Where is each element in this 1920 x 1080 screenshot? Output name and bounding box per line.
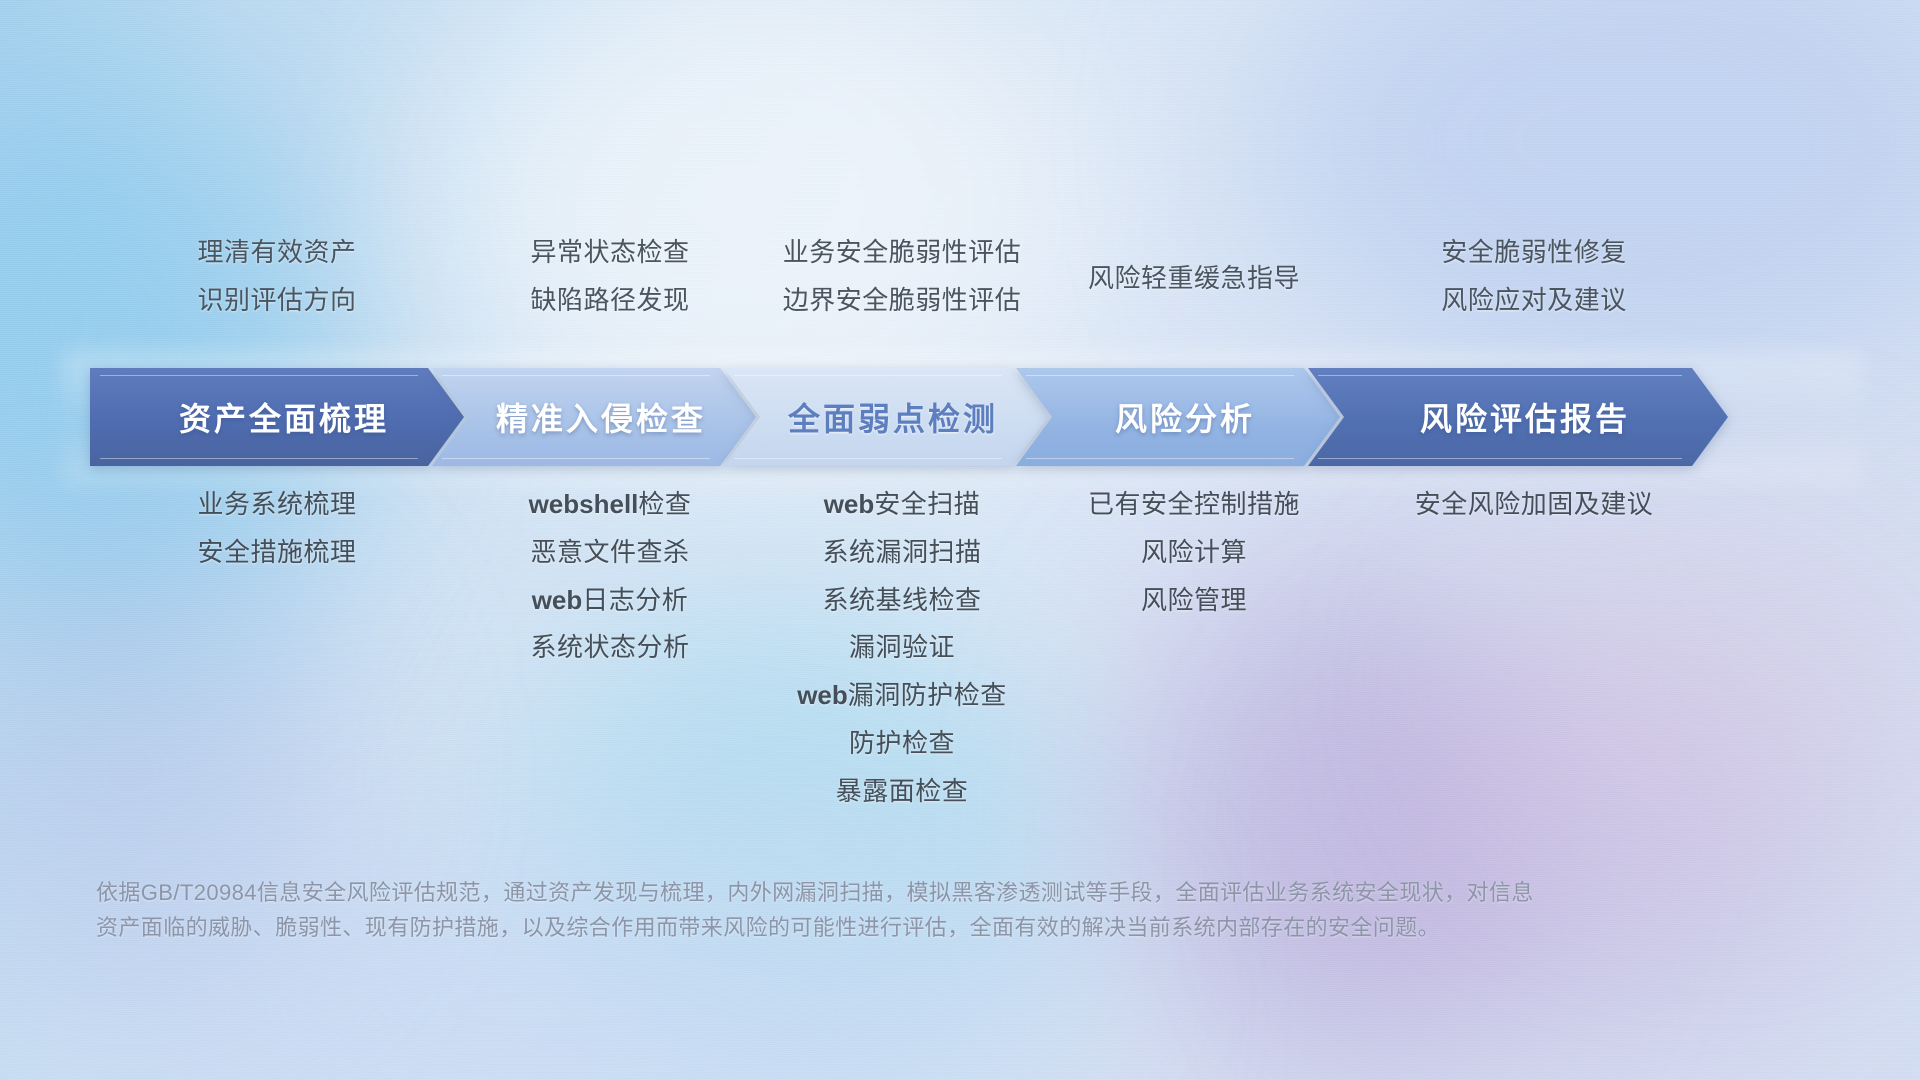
top-note: 风险应对及建议: [1441, 284, 1627, 318]
list-item: web漏洞防护检查: [797, 679, 1007, 713]
bottom-items-stage-3: web安全扫描 系统漏洞扫描 系统基线检查 漏洞验证 web漏洞防护检查 防护检…: [756, 488, 1048, 809]
top-notes-stage-4: 风险轻重缓急指导: [1048, 236, 1340, 318]
chevron-stage-assessment-report[interactable]: 风险评估报告: [1308, 368, 1728, 466]
top-note: 业务安全脆弱性评估: [783, 236, 1022, 270]
list-item: 系统状态分析: [530, 631, 689, 665]
list-item: 安全风险加固及建议: [1415, 488, 1654, 522]
list-item: webshell检查: [529, 488, 692, 522]
top-notes-stage-1: 理清有效资产 识别评估方向: [90, 236, 464, 318]
chevron-label: 精准入侵检查: [482, 394, 706, 440]
footer-line: 依据GB/T20984信息安全风险评估规范，通过资产发现与梳理，内外网漏洞扫描，…: [96, 876, 1626, 911]
top-note: 识别评估方向: [197, 284, 356, 318]
footer-line: 资产面临的威胁、脆弱性、现有防护措施，以及综合作用而带来风险的可能性进行评估，全…: [96, 911, 1626, 946]
bottom-items-row: 业务系统梳理 安全措施梳理 webshell检查 恶意文件查杀 web日志分析 …: [0, 488, 1920, 809]
chevron-highlight-line-bottom: [1026, 458, 1294, 459]
top-note: 边界安全脆弱性评估: [783, 284, 1022, 318]
bottom-items-stage-2: webshell检查 恶意文件查杀 web日志分析 系统状态分析: [464, 488, 756, 665]
list-item: 业务系统梳理: [197, 488, 356, 522]
chevron-highlight-line-top: [442, 375, 710, 376]
top-note: 风险轻重缓急指导: [1088, 262, 1300, 296]
chevron-stage-intrusion-check[interactable]: 精准入侵检查: [432, 368, 756, 466]
list-item: 安全措施梳理: [197, 536, 356, 570]
list-item: web日志分析: [532, 584, 689, 618]
list-item: 恶意文件查杀: [530, 536, 689, 570]
process-chevron-band: 资产全面梳理 精准入侵检查 全面弱点检测 风险分析 风险评估报告: [90, 368, 1830, 466]
list-item: 风险计算: [1141, 536, 1247, 570]
chevron-highlight-line-top: [734, 375, 1002, 376]
chevron-highlight-line-top: [100, 375, 418, 376]
chevron-label: 全面弱点检测: [774, 394, 998, 440]
bottom-items-stage-1: 业务系统梳理 安全措施梳理: [90, 488, 464, 570]
chevron-label: 风险评估报告: [1406, 394, 1630, 440]
chevron-highlight-line-top: [1026, 375, 1294, 376]
chevron-label: 风险分析: [1101, 394, 1255, 440]
list-item: 漏洞验证: [849, 631, 955, 665]
top-note: 安全脆弱性修复: [1441, 236, 1627, 270]
chevron-highlight-line-bottom: [1318, 458, 1682, 459]
chevron-stage-asset-inventory[interactable]: 资产全面梳理: [90, 368, 464, 466]
list-item: 系统基线检查: [822, 584, 981, 618]
top-note: 缺陷路径发现: [530, 284, 689, 318]
top-notes-stage-5: 安全脆弱性修复 风险应对及建议: [1340, 236, 1728, 318]
bottom-items-stage-5: 安全风险加固及建议: [1340, 488, 1728, 522]
top-note: 异常状态检查: [530, 236, 689, 270]
top-notes-stage-3: 业务安全脆弱性评估 边界安全脆弱性评估: [756, 236, 1048, 318]
chevron-stage-risk-analysis[interactable]: 风险分析: [1016, 368, 1340, 466]
footer-description: 依据GB/T20984信息安全风险评估规范，通过资产发现与梳理，内外网漏洞扫描，…: [96, 876, 1626, 946]
chevron-highlight-line-bottom: [734, 458, 1002, 459]
list-item: 已有安全控制措施: [1088, 488, 1300, 522]
chevron-highlight-line-bottom: [442, 458, 710, 459]
chevron-highlight-line-bottom: [100, 458, 418, 459]
infographic-root: 理清有效资产 识别评估方向 异常状态检查 缺陷路径发现 业务安全脆弱性评估 边界…: [0, 0, 1920, 1080]
list-item: 系统漏洞扫描: [822, 536, 981, 570]
chevron-highlight-line-top: [1318, 375, 1682, 376]
chevron-stage-weakness-detection[interactable]: 全面弱点检测: [724, 368, 1048, 466]
list-item: 暴露面检查: [836, 775, 969, 809]
top-note: 理清有效资产: [197, 236, 356, 270]
bottom-items-stage-4: 已有安全控制措施 风险计算 风险管理: [1048, 488, 1340, 617]
top-notes-row: 理清有效资产 识别评估方向 异常状态检查 缺陷路径发现 业务安全脆弱性评估 边界…: [0, 236, 1920, 318]
list-item: 风险管理: [1141, 584, 1247, 618]
chevron-label: 资产全面梳理: [165, 394, 389, 440]
top-notes-stage-2: 异常状态检查 缺陷路径发现: [464, 236, 756, 318]
list-item: web安全扫描: [824, 488, 981, 522]
list-item: 防护检查: [849, 727, 955, 761]
